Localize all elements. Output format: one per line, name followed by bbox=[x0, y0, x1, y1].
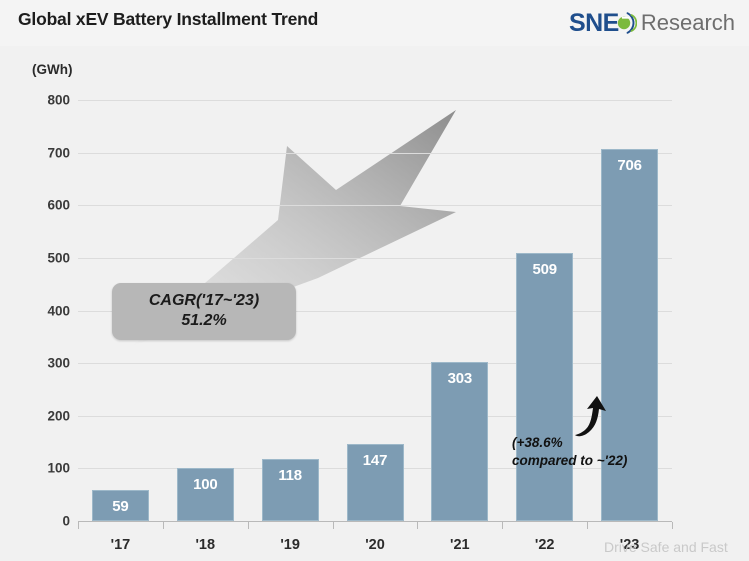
gridline bbox=[78, 416, 672, 417]
sne-research-logo: SNE Research bbox=[569, 6, 735, 40]
x-axis-label-22: '22 bbox=[515, 537, 575, 553]
logo-suffix-text: Research bbox=[641, 12, 735, 34]
logo-swoosh-icon bbox=[617, 10, 637, 36]
watermark-text: Drive Safe and Fast bbox=[604, 539, 728, 555]
gridline bbox=[78, 363, 672, 364]
bar-21[interactable]: 303 bbox=[431, 362, 488, 521]
growth-annotation: (+38.6% compared to ~'22) bbox=[512, 434, 627, 470]
cagr-line-2: 51.2% bbox=[118, 311, 290, 331]
y-axis-tick-label: 700 bbox=[8, 145, 70, 160]
x-axis-tick bbox=[672, 522, 673, 529]
x-axis-tick bbox=[248, 522, 249, 529]
y-axis-tick-label: 500 bbox=[8, 250, 70, 265]
y-axis-tick-label: 300 bbox=[8, 356, 70, 371]
x-axis-label-18: '18 bbox=[175, 537, 235, 553]
gridline bbox=[78, 153, 672, 154]
cagr-callout: CAGR('17~'23) 51.2% bbox=[112, 283, 296, 340]
bar-19[interactable]: 118 bbox=[262, 459, 319, 521]
x-axis-label-19: '19 bbox=[260, 537, 320, 553]
y-axis-tick-label: 0 bbox=[8, 514, 70, 529]
bar-18[interactable]: 100 bbox=[177, 468, 234, 521]
x-axis-tick bbox=[587, 522, 588, 529]
x-axis-tick bbox=[417, 522, 418, 529]
y-axis-tick-label: 400 bbox=[8, 303, 70, 318]
bar-value-label: 303 bbox=[432, 370, 487, 387]
bar-20[interactable]: 147 bbox=[347, 444, 404, 521]
chart-page: Global xEV Battery Installment Trend SNE… bbox=[0, 0, 749, 561]
bar-value-label: 59 bbox=[93, 498, 148, 515]
growth-line-2: compared to ~'22) bbox=[512, 452, 627, 470]
y-axis-tick-labels: 8007006005004003002001000 bbox=[0, 0, 70, 561]
bar-17[interactable]: 59 bbox=[92, 490, 149, 521]
bar-value-label: 509 bbox=[517, 261, 572, 278]
x-axis-tick bbox=[333, 522, 334, 529]
gridline bbox=[78, 100, 672, 101]
x-axis-label-20: '20 bbox=[345, 537, 405, 553]
gridline bbox=[78, 205, 672, 206]
bar-value-label: 706 bbox=[602, 157, 657, 174]
growth-line-1: (+38.6% bbox=[512, 434, 627, 452]
y-axis-tick-label: 200 bbox=[8, 408, 70, 423]
y-axis-tick-label: 800 bbox=[8, 93, 70, 108]
y-axis-tick-label: 600 bbox=[8, 198, 70, 213]
x-axis-label-17: '17 bbox=[90, 537, 150, 553]
y-axis-tick-label: 100 bbox=[8, 461, 70, 476]
x-axis-tick bbox=[163, 522, 164, 529]
gridline bbox=[78, 258, 672, 259]
x-axis-tick bbox=[502, 522, 503, 529]
bar-value-label: 100 bbox=[178, 476, 233, 493]
logo-brand-text: SNE bbox=[569, 11, 619, 36]
bar-value-label: 118 bbox=[263, 467, 318, 484]
x-axis-label-21: '21 bbox=[430, 537, 490, 553]
bar-22[interactable]: 509 bbox=[516, 253, 573, 521]
bar-value-label: 147 bbox=[348, 452, 403, 469]
x-axis-line bbox=[78, 521, 672, 522]
x-axis-tick bbox=[78, 522, 79, 529]
cagr-line-1: CAGR('17~'23) bbox=[118, 291, 290, 311]
